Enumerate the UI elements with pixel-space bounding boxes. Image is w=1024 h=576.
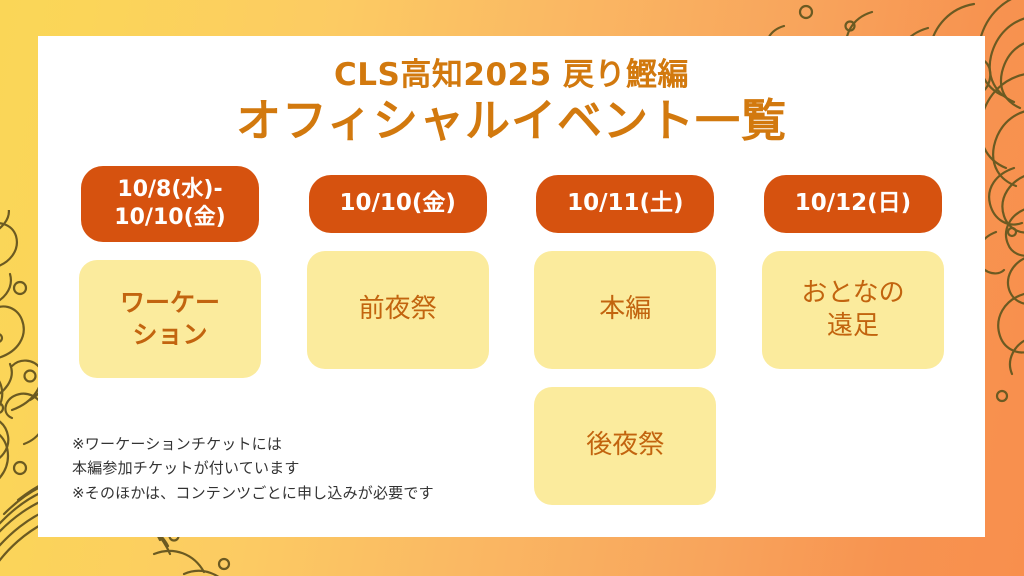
footnote-line-1: ※ワーケーションチケットには bbox=[72, 432, 434, 456]
slide-root: CLS高知2025 戻り鰹編 オフィシャルイベント一覧 10/8(水)- 10/… bbox=[0, 0, 1024, 576]
event-card-gouyasai[interactable]: 後夜祭 bbox=[534, 387, 716, 505]
date-badge-4[interactable]: 10/12(日) bbox=[764, 175, 942, 233]
schedule-column-1: 10/8(水)- 10/10(金) ワーケー ション bbox=[70, 166, 270, 378]
footnote-line-2: 本編参加チケットが付いています bbox=[72, 456, 434, 480]
title-block: CLS高知2025 戻り鰹編 オフィシャルイベント一覧 bbox=[38, 36, 985, 147]
event-card-zenyasai[interactable]: 前夜祭 bbox=[307, 251, 489, 369]
date-badge-3[interactable]: 10/11(土) bbox=[536, 175, 714, 233]
date-badge-2[interactable]: 10/10(金) bbox=[309, 175, 487, 233]
date-badge-1[interactable]: 10/8(水)- 10/10(金) bbox=[81, 166, 259, 242]
page-title: オフィシャルイベント一覧 bbox=[38, 94, 985, 147]
event-card-otonano-ensoku[interactable]: おとなの 遠足 bbox=[762, 251, 944, 369]
schedule-column-3: 10/11(土) 本編 後夜祭 bbox=[525, 166, 725, 505]
schedule-column-2: 10/10(金) 前夜祭 bbox=[298, 166, 498, 369]
content-card: CLS高知2025 戻り鰹編 オフィシャルイベント一覧 10/8(水)- 10/… bbox=[38, 36, 985, 537]
event-card-workation[interactable]: ワーケー ション bbox=[79, 260, 261, 378]
schedule-column-4: 10/12(日) おとなの 遠足 bbox=[753, 166, 953, 369]
footnote-line-3: ※そのほかは、コンテンツごとに申し込みが必要です bbox=[72, 481, 434, 505]
event-card-honpen[interactable]: 本編 bbox=[534, 251, 716, 369]
footnotes: ※ワーケーションチケットには 本編参加チケットが付いています ※そのほかは、コン… bbox=[72, 432, 434, 505]
event-subtitle: CLS高知2025 戻り鰹編 bbox=[38, 58, 985, 92]
